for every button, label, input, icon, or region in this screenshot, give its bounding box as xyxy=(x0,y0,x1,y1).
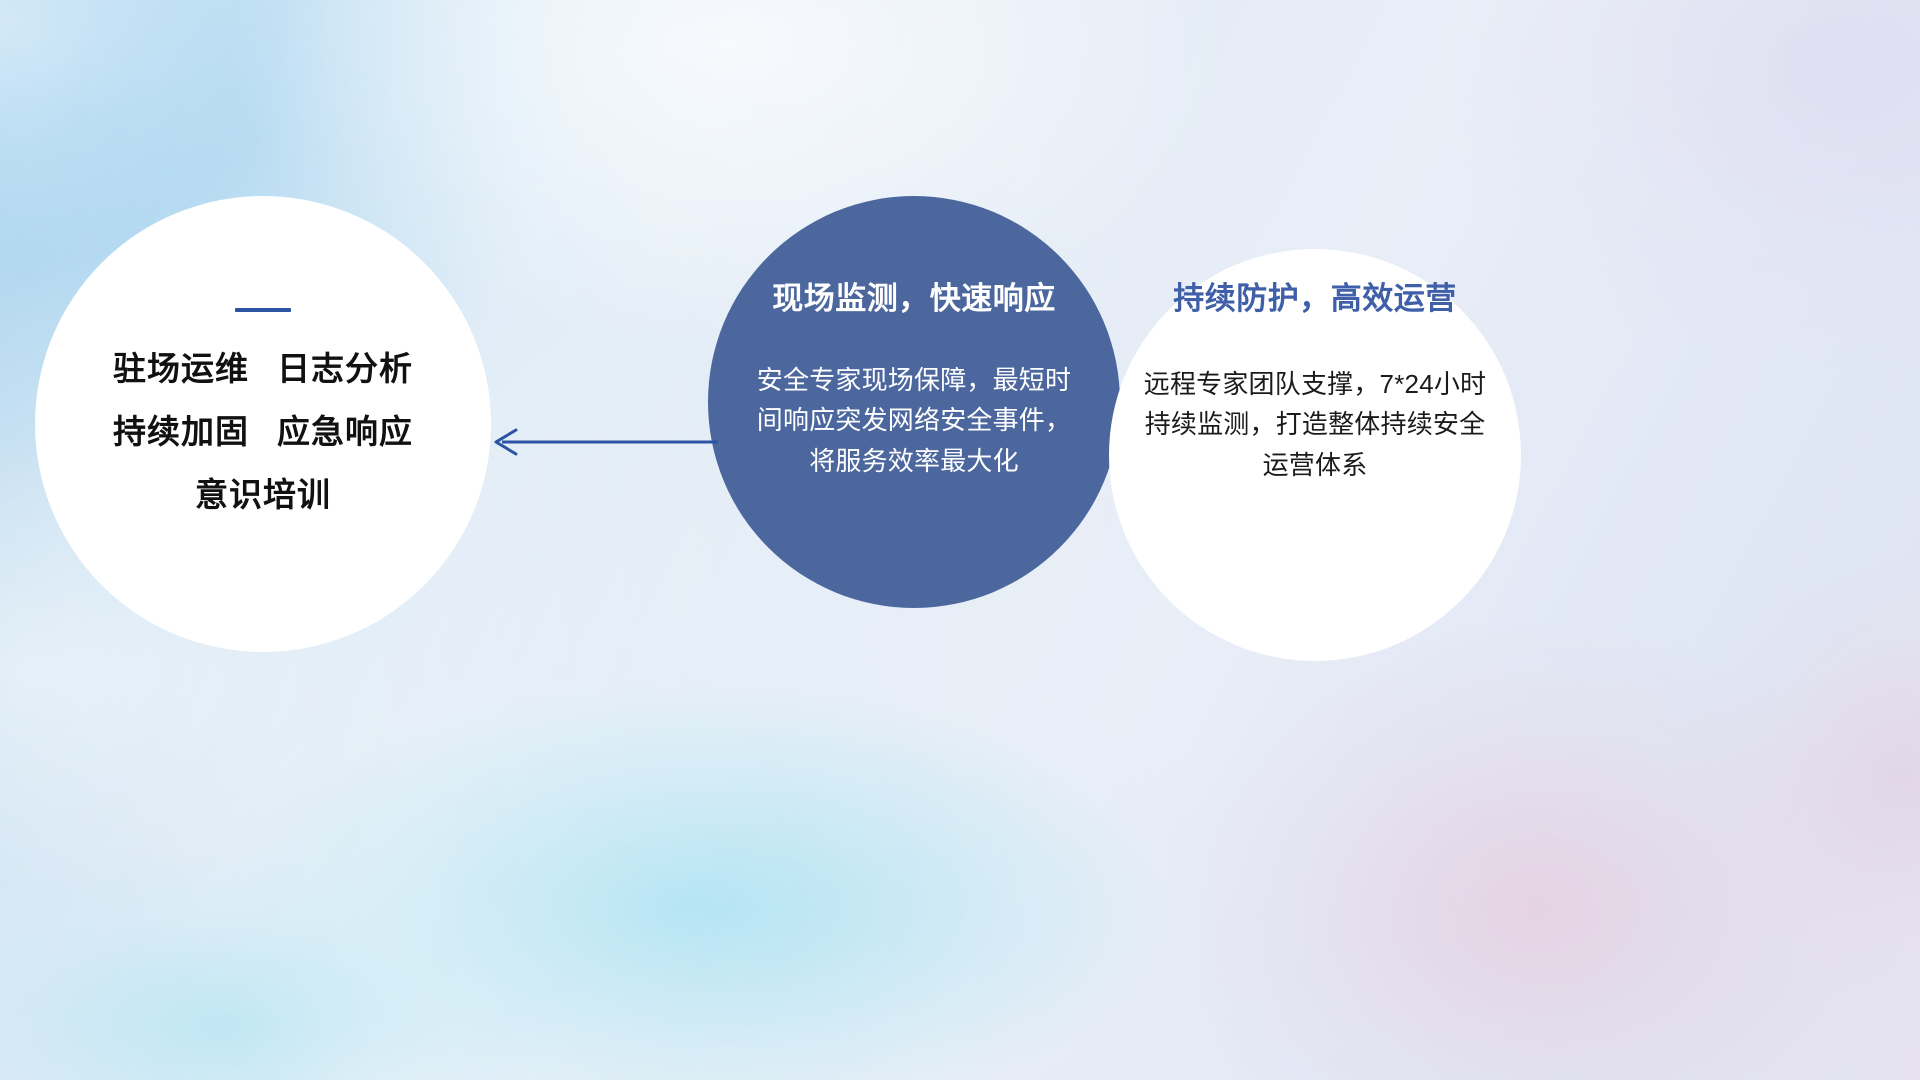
middle-circle-onsite-monitoring[interactable]: 现场监测，快速响应 安全专家现场保障，最短时间响应突发网络安全事件，将服务效率最… xyxy=(708,196,1120,608)
slide-canvas: 现场监测，快速响应 安全专家现场保障，最短时间响应突发网络安全事件，将服务效率最… xyxy=(0,0,1920,1080)
right-circle-heading: 持续防护，高效运营 xyxy=(1173,282,1457,316)
left-circle-line-1: 驻场运维日志分析 xyxy=(113,352,413,385)
right-circle-body-text: 远程专家团队支撑，7*24小时持续监测，打造整体持续安全运营体系 xyxy=(1140,364,1490,485)
left-circle-item-log-analysis: 日志分析 xyxy=(277,350,413,387)
left-circle-item-emergency-response: 应急响应 xyxy=(277,413,413,450)
arrow-connector xyxy=(480,412,720,472)
arrow-left-icon xyxy=(480,412,720,472)
left-circle-line-2: 持续加固应急响应 xyxy=(113,415,413,448)
left-circle-content: 驻场运维日志分析 持续加固应急响应 意识培训 xyxy=(35,196,491,652)
middle-circle-body-text: 安全专家现场保障，最短时间响应突发网络安全事件，将服务效率最大化 xyxy=(755,360,1073,481)
left-circle-item-onsite-ops: 驻场运维 xyxy=(113,350,249,387)
middle-circle-heading: 现场监测，快速响应 xyxy=(772,282,1056,316)
middle-circle-content: 现场监测，快速响应 安全专家现场保障，最短时间响应突发网络安全事件，将服务效率最… xyxy=(708,196,1120,608)
left-circle-item-continuous-hardening: 持续加固 xyxy=(113,413,249,450)
right-circle-content: 持续防护，高效运营 远程专家团队支撑，7*24小时持续监测，打造整体持续安全运营… xyxy=(1109,249,1521,661)
left-circle-service-capabilities[interactable]: 驻场运维日志分析 持续加固应急响应 意识培训 xyxy=(35,196,491,652)
left-circle-divider xyxy=(235,308,291,312)
left-circle-line-3: 意识培训 xyxy=(195,478,331,511)
right-circle-continuous-protection[interactable]: 持续防护，高效运营 远程专家团队支撑，7*24小时持续监测，打造整体持续安全运营… xyxy=(1109,249,1521,661)
